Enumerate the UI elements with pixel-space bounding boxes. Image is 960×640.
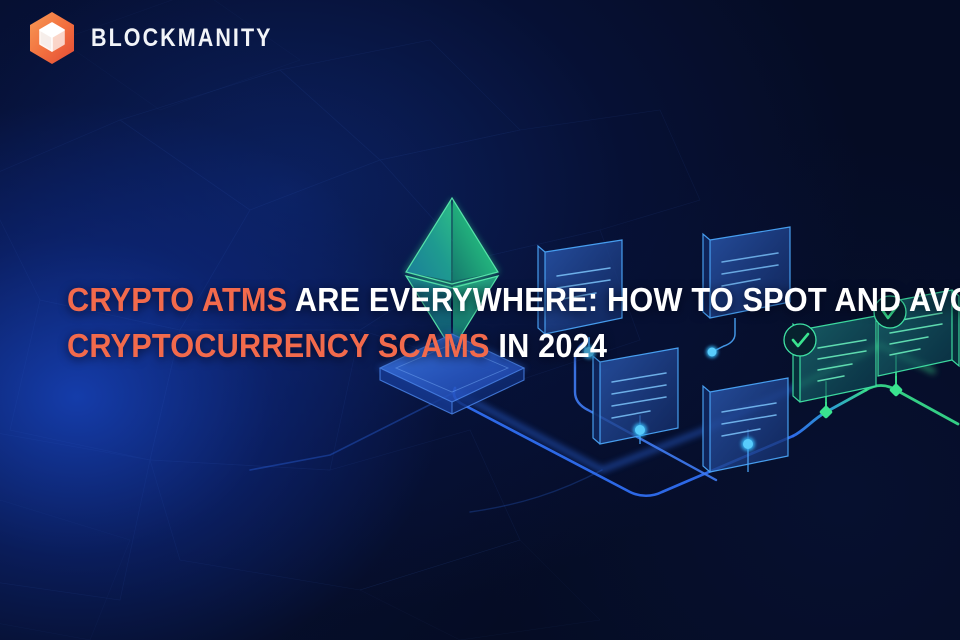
isometric-document-card-icon xyxy=(703,378,788,472)
headline-line-1: CRYPTO ATMS ARE EVERYWHERE: HOW TO SPOT … xyxy=(67,277,746,323)
logo-wordmark: BLOCKMANITY xyxy=(91,24,273,53)
hexagon-cube-logo-icon xyxy=(26,10,78,66)
isometric-verified-card-icon xyxy=(784,316,876,412)
headline-accent-1: CRYPTO ATMS xyxy=(67,281,287,318)
headline-rest-2: IN 2024 xyxy=(490,327,608,364)
headline-rest-1: ARE EVERYWHERE: HOW TO SPOT AND AVOID xyxy=(287,281,960,318)
article-headline: CRYPTO ATMS ARE EVERYWHERE: HOW TO SPOT … xyxy=(67,277,797,369)
headline-line-2: CRYPTOCURRENCY SCAMS IN 2024 xyxy=(67,323,746,369)
site-logo[interactable]: BLOCKMANITY xyxy=(26,10,302,66)
article-hero-banner: BLOCKMANITY xyxy=(0,0,960,640)
headline-accent-2: CRYPTOCURRENCY SCAMS xyxy=(67,327,490,364)
